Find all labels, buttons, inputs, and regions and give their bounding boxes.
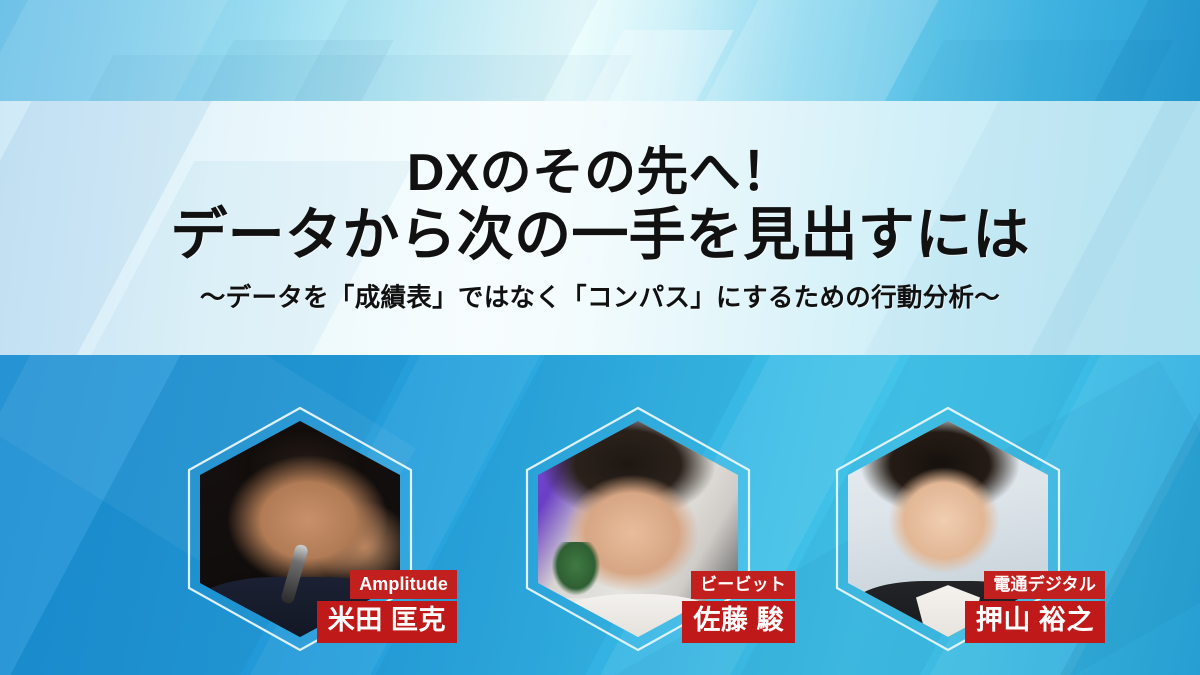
speaker-company-badge: ビービット	[691, 571, 795, 599]
title-block: DXのその先へ！ データから次の一手を見出すには 〜データを「成績表」ではなく「…	[0, 101, 1200, 355]
speaker-badges: 電通デジタル 押山 裕之	[965, 571, 1105, 643]
speaker-company-badge: Amplitude	[350, 570, 457, 599]
webinar-banner: DXのその先へ！ データから次の一手を見出すには 〜データを「成績表」ではなく「…	[0, 0, 1200, 675]
speaker-badges: ビービット 佐藤 駿	[682, 571, 795, 643]
page-title-line-2: データから次の一手を見出すには	[170, 206, 1029, 265]
speaker-card: ビービット 佐藤 駿	[523, 405, 753, 653]
speaker-list: Amplitude 米田 匡克 ビービット 佐藤 駿	[0, 355, 1200, 675]
speaker-name-badge: 米田 匡克	[317, 601, 457, 643]
speaker-card: 電通デジタル 押山 裕之	[833, 405, 1063, 653]
speaker-card: Amplitude 米田 匡克	[185, 405, 415, 653]
page-subtitle: 〜データを「成績表」ではなく「コンパス」にするための行動分析〜	[200, 277, 1000, 314]
page-title-line-1: DXのその先へ！	[407, 146, 793, 200]
speaker-name-badge: 佐藤 駿	[682, 601, 795, 643]
top-decorative-band	[0, 0, 1200, 101]
speaker-company-badge: 電通デジタル	[984, 571, 1105, 599]
speaker-name-badge: 押山 裕之	[965, 601, 1105, 643]
speaker-badges: Amplitude 米田 匡克	[317, 570, 457, 643]
